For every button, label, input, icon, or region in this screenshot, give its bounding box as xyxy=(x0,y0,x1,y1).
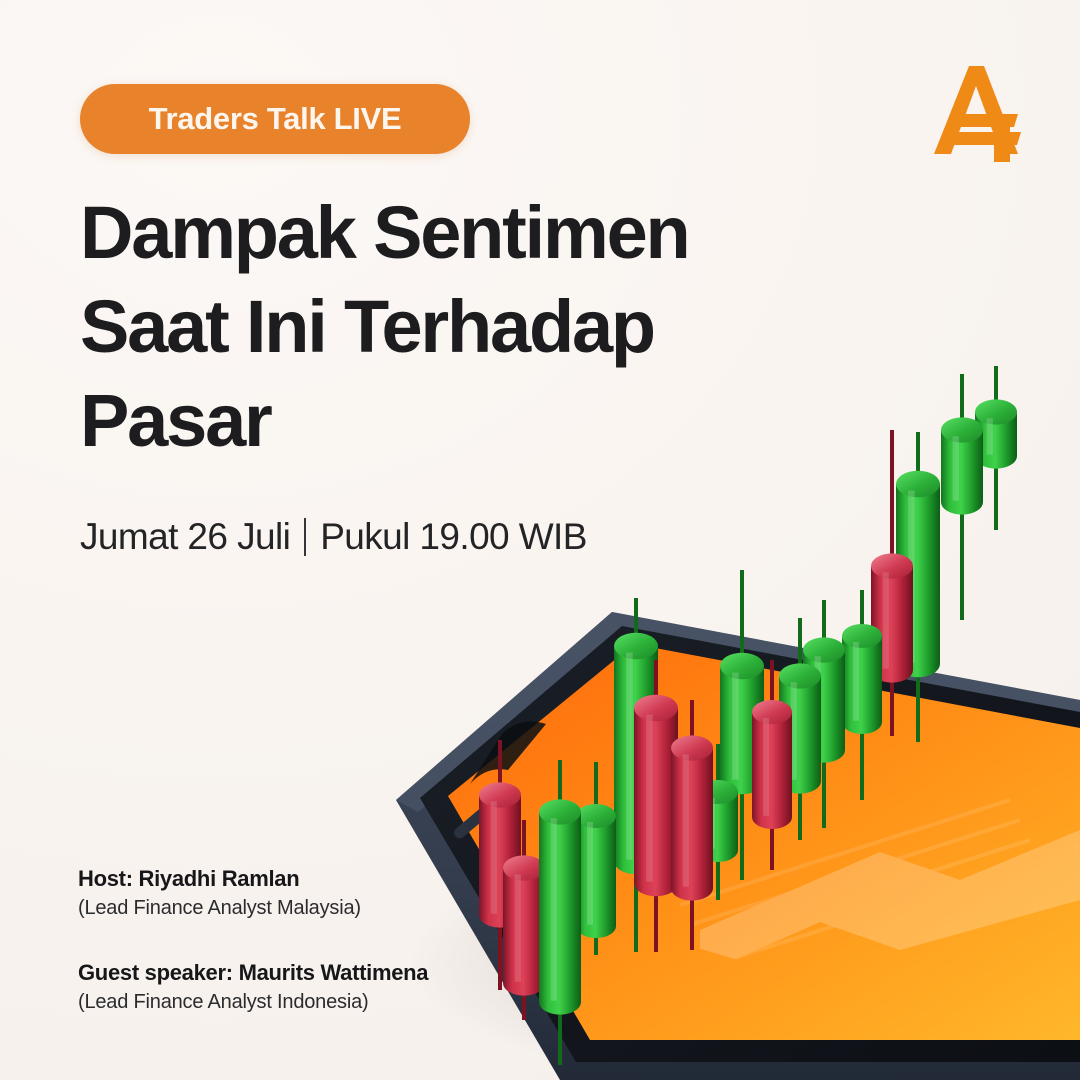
headline-line-1: Dampak Sentimen xyxy=(80,196,800,270)
brand-logo-icon xyxy=(922,58,1028,162)
page-title: Dampak Sentimen Saat Ini Terhadap Pasar xyxy=(80,196,800,478)
event-date: Jumat 26 Juli xyxy=(80,516,290,558)
event-time: Pukul 19.00 WIB xyxy=(320,516,587,558)
event-datetime: Jumat 26 Juli Pukul 19.00 WIB xyxy=(80,516,587,558)
live-badge-label: Traders Talk LIVE xyxy=(149,101,402,137)
host-block: Host: Riyadhi Ramlan (Lead Finance Analy… xyxy=(78,866,428,920)
headline-line-2: Saat Ini Terhadap xyxy=(80,290,800,364)
separator-divider xyxy=(304,518,306,556)
host-role: (Lead Finance Analyst Malaysia) xyxy=(78,897,428,920)
speaker-credits: Host: Riyadhi Ramlan (Lead Finance Analy… xyxy=(78,866,428,1014)
headline-line-3: Pasar xyxy=(80,384,800,458)
guest-role: (Lead Finance Analyst Indonesia) xyxy=(78,991,428,1014)
guest-block: Guest speaker: Maurits Wattimena (Lead F… xyxy=(78,960,428,1014)
poster-canvas: Traders Talk LIVE Dampak Sentimen Saat I… xyxy=(0,0,1080,1080)
guest-name: Guest speaker: Maurits Wattimena xyxy=(78,960,428,986)
host-name: Host: Riyadhi Ramlan xyxy=(78,866,428,892)
live-badge[interactable]: Traders Talk LIVE xyxy=(80,84,470,154)
